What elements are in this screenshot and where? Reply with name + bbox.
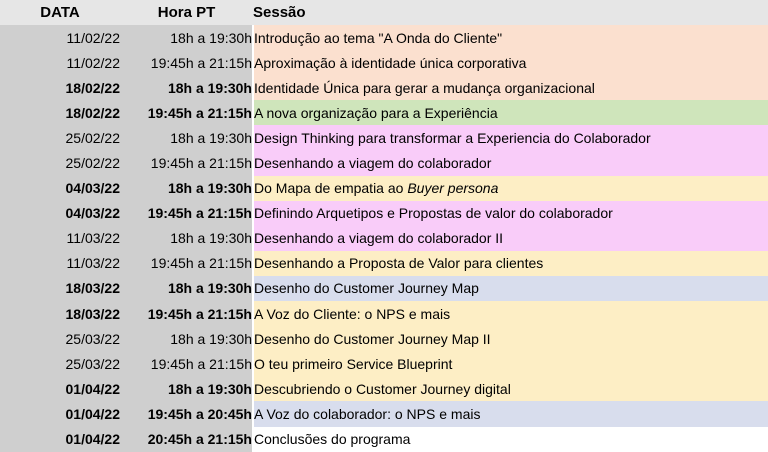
column-header-sessao: Sessão: [253, 0, 768, 25]
cell-data: 18/02/22: [0, 75, 120, 100]
table-row: 11/02/2219:45h a 21:15hAproximação à ide…: [0, 50, 768, 75]
cell-data: 04/03/22: [0, 201, 120, 226]
cell-data: 25/03/22: [0, 326, 120, 351]
cell-hora: 20:45h a 21:15h: [120, 427, 253, 452]
table-row: 04/03/2218h a 19:30hDo Mapa de empatia a…: [0, 176, 768, 201]
schedule-table: DATA Hora PT Sessão 11/02/2218h a 19:30h…: [0, 0, 768, 452]
cell-sessao: A nova organização para a Experiência: [253, 100, 768, 125]
cell-data: 01/04/22: [0, 427, 120, 452]
cell-sessao: Desenho do Customer Journey Map II: [253, 326, 768, 351]
cell-sessao: Desenhando a Proposta de Valor para clie…: [253, 251, 768, 276]
table-row: 18/03/2218h a 19:30hDesenho do Customer …: [0, 276, 768, 301]
table-row: 01/04/2219:45h a 20:45hA Voz do colabora…: [0, 401, 768, 426]
cell-sessao: Identidade Única para gerar a mudança or…: [253, 75, 768, 100]
table-row: 25/03/2218h a 19:30hDesenho do Customer …: [0, 326, 768, 351]
session-title: Conclusões do programa: [254, 431, 410, 447]
table-row: 18/02/2218h a 19:30hIdentidade Única par…: [0, 75, 768, 100]
session-title: A Voz do colaborador: o NPS e mais: [254, 406, 480, 422]
cell-hora: 19:45h a 21:15h: [120, 351, 253, 376]
cell-hora: 19:45h a 21:15h: [120, 301, 253, 326]
session-title: Desenhando a Proposta de Valor para clie…: [254, 255, 543, 271]
column-header-hora: Hora PT: [120, 0, 253, 25]
cell-data: 11/03/22: [0, 251, 120, 276]
session-title: Desenhando a viagem do colaborador: [254, 155, 491, 171]
cell-sessao: Introdução ao tema "A Onda do Cliente": [253, 25, 768, 50]
cell-data: 25/02/22: [0, 125, 120, 150]
session-title-emphasis: Buyer persona: [407, 180, 498, 196]
session-title: Definindo Arquetipos e Propostas de valo…: [254, 205, 613, 221]
table-row: 11/03/2218h a 19:30hDesenhando a viagem …: [0, 226, 768, 251]
cell-data: 18/02/22: [0, 100, 120, 125]
cell-data: 11/02/22: [0, 25, 120, 50]
cell-data: 01/04/22: [0, 401, 120, 426]
cell-hora: 18h a 19:30h: [120, 125, 253, 150]
session-title: Identidade Única para gerar a mudança or…: [254, 80, 595, 96]
table-row: 25/02/2219:45h a 21:15hDesenhando a viag…: [0, 150, 768, 175]
table-row: 18/03/2219:45h a 21:15hA Voz do Cliente:…: [0, 301, 768, 326]
session-title: Descubriendo o Customer Journey digital: [254, 381, 511, 397]
cell-sessao: Definindo Arquetipos e Propostas de valo…: [253, 201, 768, 226]
cell-sessao: O teu primeiro Service Blueprint: [253, 351, 768, 376]
table-row: 25/02/2218h a 19:30hDesign Thinking para…: [0, 125, 768, 150]
session-title: A Voz do Cliente: o NPS e mais: [254, 306, 450, 322]
cell-sessao: Aproximação à identidade única corporati…: [253, 50, 768, 75]
session-title: Desenho do Customer Journey Map II: [254, 331, 491, 347]
cell-hora: 18h a 19:30h: [120, 326, 253, 351]
cell-data: 25/03/22: [0, 351, 120, 376]
cell-hora: 18h a 19:30h: [120, 276, 253, 301]
cell-hora: 18h a 19:30h: [120, 226, 253, 251]
table-row: 01/04/2220:45h a 21:15hConclusões do pro…: [0, 427, 768, 452]
cell-hora: 19:45h a 21:15h: [120, 150, 253, 175]
cell-hora: 19:45h a 21:15h: [120, 50, 253, 75]
session-title: O teu primeiro Service Blueprint: [254, 356, 452, 372]
table-body: 11/02/2218h a 19:30hIntrodução ao tema "…: [0, 25, 768, 452]
cell-sessao: Do Mapa de empatia ao Buyer persona: [253, 176, 768, 201]
session-title: Introdução ao tema "A Onda do Cliente": [254, 30, 502, 46]
cell-data: 25/02/22: [0, 150, 120, 175]
cell-sessao: Desenhando a viagem do colaborador II: [253, 226, 768, 251]
cell-sessao: A Voz do Cliente: o NPS e mais: [253, 301, 768, 326]
cell-hora: 18h a 19:30h: [120, 25, 253, 50]
cell-data: 04/03/22: [0, 176, 120, 201]
table-row: 11/02/2218h a 19:30hIntrodução ao tema "…: [0, 25, 768, 50]
cell-sessao: Descubriendo o Customer Journey digital: [253, 376, 768, 401]
table-row: 11/03/2219:45h a 21:15hDesenhando a Prop…: [0, 251, 768, 276]
cell-data: 18/03/22: [0, 301, 120, 326]
cell-hora: 19:45h a 21:15h: [120, 251, 253, 276]
cell-hora: 19:45h a 21:15h: [120, 100, 253, 125]
cell-hora: 18h a 19:30h: [120, 176, 253, 201]
session-title: Desenho do Customer Journey Map: [254, 280, 479, 296]
cell-sessao: Design Thinking para transformar a Exper…: [253, 125, 768, 150]
session-title: Aproximação à identidade única corporati…: [254, 55, 526, 71]
table-header: DATA Hora PT Sessão: [0, 0, 768, 25]
column-header-data: DATA: [0, 0, 120, 25]
cell-sessao: Conclusões do programa: [253, 427, 768, 452]
cell-data: 11/02/22: [0, 50, 120, 75]
table-row: 25/03/2219:45h a 21:15hO teu primeiro Se…: [0, 351, 768, 376]
cell-hora: 18h a 19:30h: [120, 75, 253, 100]
cell-hora: 18h a 19:30h: [120, 376, 253, 401]
session-title: Design Thinking para transformar a Exper…: [254, 130, 651, 146]
header-row: DATA Hora PT Sessão: [0, 0, 768, 25]
cell-sessao: Desenhando a viagem do colaborador: [253, 150, 768, 175]
cell-hora: 19:45h a 20:45h: [120, 401, 253, 426]
cell-sessao: A Voz do colaborador: o NPS e mais: [253, 401, 768, 426]
table-row: 01/04/2218h a 19:30hDescubriendo o Custo…: [0, 376, 768, 401]
cell-data: 18/03/22: [0, 276, 120, 301]
table-row: 18/02/2219:45h a 21:15hA nova organizaçã…: [0, 100, 768, 125]
session-title: A nova organização para a Experiência: [254, 105, 498, 121]
session-title: Do Mapa de empatia ao: [254, 180, 407, 196]
table-row: 04/03/2219:45h a 21:15hDefinindo Arqueti…: [0, 201, 768, 226]
cell-hora: 19:45h a 21:15h: [120, 201, 253, 226]
session-title: Desenhando a viagem do colaborador II: [254, 230, 503, 246]
cell-data: 11/03/22: [0, 226, 120, 251]
cell-sessao: Desenho do Customer Journey Map: [253, 276, 768, 301]
cell-data: 01/04/22: [0, 376, 120, 401]
